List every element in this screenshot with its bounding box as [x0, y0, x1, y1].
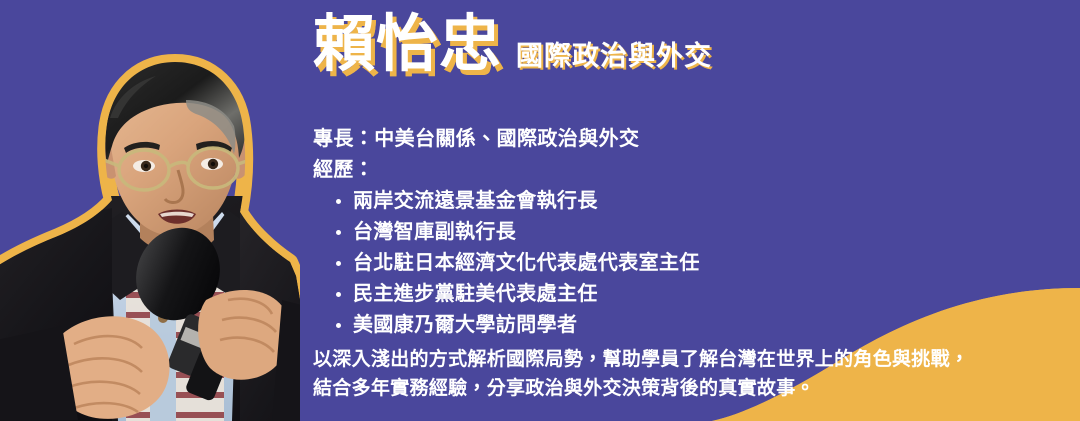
bullet-dot-icon [336, 199, 341, 204]
list-item-label: 台灣智庫副執行長 [353, 221, 516, 243]
speaker-profile-card: 賴怡忠 國際政治與外交 專長：中美台關係、國際政治與外交 經歷： 兩岸交流遠景基… [0, 0, 1080, 421]
list-item: 台北駐日本經濟文化代表處代表室主任 [353, 248, 1053, 279]
speaker-name: 賴怡忠 [313, 14, 502, 76]
speaker-role: 國際政治與外交 [516, 43, 712, 76]
list-item: 民主進步黨駐美代表處主任 [353, 279, 1053, 310]
title-row: 賴怡忠 國際政治與外交 [313, 14, 712, 76]
bullet-dot-icon [336, 292, 341, 297]
summary-line-1: 以深入淺出的方式解析國際局勢，幫助學員了解台灣在世界上的角色與挑戰， [313, 345, 1078, 374]
list-item: 美國康乃爾大學訪問學者 [353, 310, 1053, 341]
speaker-portrait-image [0, 0, 300, 421]
bullet-dot-icon [336, 323, 341, 328]
bullet-dot-icon [336, 261, 341, 266]
profile-content: 賴怡忠 國際政治與外交 專長：中美台關係、國際政治與外交 經歷： 兩岸交流遠景基… [313, 0, 1073, 421]
list-item: 台灣智庫副執行長 [353, 217, 1053, 248]
list-item-label: 兩岸交流遠景基金會執行長 [353, 190, 598, 212]
summary-line-2: 結合多年實務經驗，分享政治與外交決策背後的真實故事。 [313, 374, 1078, 403]
profile-details: 專長：中美台關係、國際政治與外交 經歷： 兩岸交流遠景基金會執行長 台灣智庫副執… [313, 124, 1053, 341]
bullet-dot-icon [336, 230, 341, 235]
portrait-container [0, 0, 300, 421]
list-item-label: 台北駐日本經濟文化代表處代表室主任 [353, 252, 700, 274]
specialty-line: 專長：中美台關係、國際政治與外交 [313, 124, 1053, 155]
experience-label: 經歷： [313, 155, 1053, 186]
list-item-label: 美國康乃爾大學訪問學者 [353, 314, 577, 336]
summary-paragraph: 以深入淺出的方式解析國際局勢，幫助學員了解台灣在世界上的角色與挑戰， 結合多年實… [313, 345, 1078, 403]
list-item-label: 民主進步黨駐美代表處主任 [353, 283, 598, 305]
experience-list: 兩岸交流遠景基金會執行長 台灣智庫副執行長 台北駐日本經濟文化代表處代表室主任 … [313, 186, 1053, 341]
list-item: 兩岸交流遠景基金會執行長 [353, 186, 1053, 217]
